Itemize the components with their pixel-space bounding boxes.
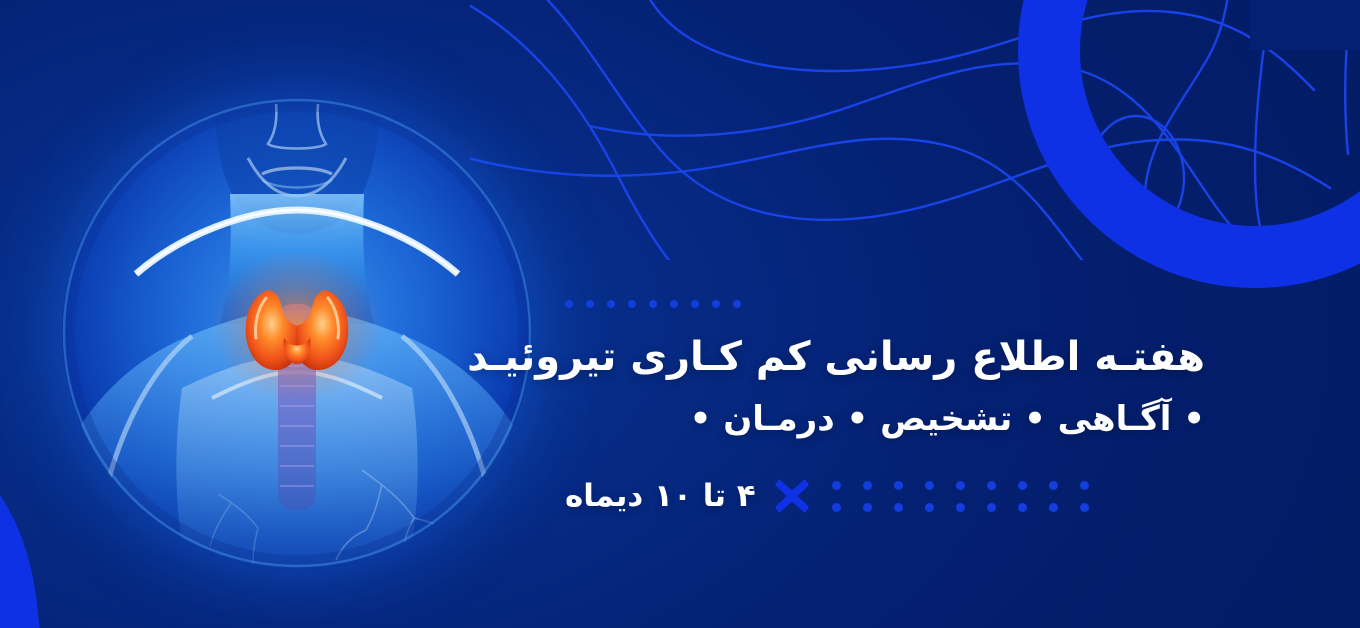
dot-grid-row [832, 503, 1089, 512]
decorative-dot [894, 503, 903, 512]
banner-content: هفتـه اطلاع رسانی کم کـاری تیروئیـد • آگ… [565, 296, 1205, 516]
decorative-dot [894, 481, 903, 490]
decorative-dot [1080, 503, 1089, 512]
decorative-dot [733, 300, 741, 308]
thyroid-neck-anatomy-icon [62, 98, 532, 568]
thyroid-awareness-banner: هفتـه اطلاع رسانی کم کـاری تیروئیـد • آگ… [0, 0, 1360, 628]
decorative-dot [712, 300, 720, 308]
decorative-dot [863, 503, 872, 512]
banner-headline: هفتـه اطلاع رسانی کم کـاری تیروئیـد [565, 334, 1205, 381]
decorative-dot [586, 300, 594, 308]
decorative-dot [670, 300, 678, 308]
decorative-dot [1080, 481, 1089, 490]
decorative-dot [649, 300, 657, 308]
x-cross-icon [772, 476, 812, 516]
banner-subline: • آگـاهی • تشخیص • درمـان • [565, 399, 1205, 440]
decorative-dot [1049, 503, 1058, 512]
decorative-dot [987, 481, 996, 490]
dotted-rule-top [565, 296, 753, 312]
dotted-grid-date [832, 479, 1103, 512]
decorative-dot [565, 300, 573, 308]
decorative-dot [628, 300, 636, 308]
decorative-dot [607, 300, 615, 308]
decorative-dot [1018, 481, 1027, 490]
decorative-dot [987, 503, 996, 512]
decorative-dot [832, 481, 841, 490]
decorative-dot [691, 300, 699, 308]
decorative-dot [925, 503, 934, 512]
dot-grid-row [832, 481, 1103, 490]
decorative-dot [956, 503, 965, 512]
decorative-dot [832, 503, 841, 512]
decorative-dot [1049, 481, 1058, 490]
decorative-dot [956, 481, 965, 490]
decorative-dot [1018, 503, 1027, 512]
banner-date-text: ۴ تا ۱۰ دیماه [565, 478, 756, 514]
decorative-dot [925, 481, 934, 490]
decorative-dot [863, 481, 872, 490]
banner-date-row: ۴ تا ۱۰ دیماه [565, 476, 1205, 516]
